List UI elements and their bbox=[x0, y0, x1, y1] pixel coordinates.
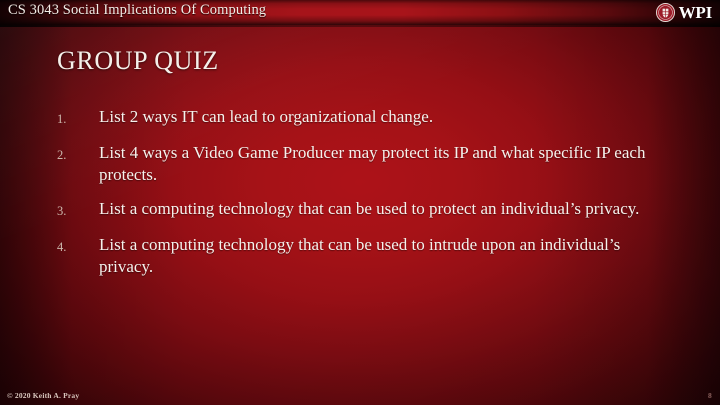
slide-title: GROUP QUIZ bbox=[57, 46, 219, 76]
list-item-text: List 2 ways IT can lead to organizationa… bbox=[99, 106, 677, 128]
list-item-number: 1. bbox=[57, 106, 99, 130]
wpi-seal-icon bbox=[656, 3, 675, 22]
course-title: CS 3043 Social Implications Of Computing bbox=[8, 2, 266, 19]
list-item: 4. List a computing technology that can … bbox=[57, 234, 677, 278]
list-item-text: List 4 ways a Video Game Producer may pr… bbox=[99, 142, 677, 186]
list-item: 3. List a computing technology that can … bbox=[57, 198, 677, 222]
footer-copyright: © 2020 Keith A. Pray bbox=[7, 391, 79, 400]
slide-header-bar: CS 3043 Social Implications Of Computing… bbox=[0, 0, 720, 25]
list-item-number: 2. bbox=[57, 142, 99, 166]
list-item-number: 4. bbox=[57, 234, 99, 258]
header-divider bbox=[0, 25, 720, 27]
wpi-wordmark: WPI bbox=[679, 4, 712, 21]
presentation-slide: CS 3043 Social Implications Of Computing… bbox=[0, 0, 720, 405]
list-item: 2. List 4 ways a Video Game Producer may… bbox=[57, 142, 677, 186]
list-item-text: List a computing technology that can be … bbox=[99, 198, 677, 220]
list-item-number: 3. bbox=[57, 198, 99, 222]
wpi-logo: WPI bbox=[656, 1, 712, 24]
quiz-question-list: 1. List 2 ways IT can lead to organizati… bbox=[57, 106, 677, 290]
list-item: 1. List 2 ways IT can lead to organizati… bbox=[57, 106, 677, 130]
slide-page-number: 8 bbox=[708, 391, 712, 400]
list-item-text: List a computing technology that can be … bbox=[99, 234, 677, 278]
